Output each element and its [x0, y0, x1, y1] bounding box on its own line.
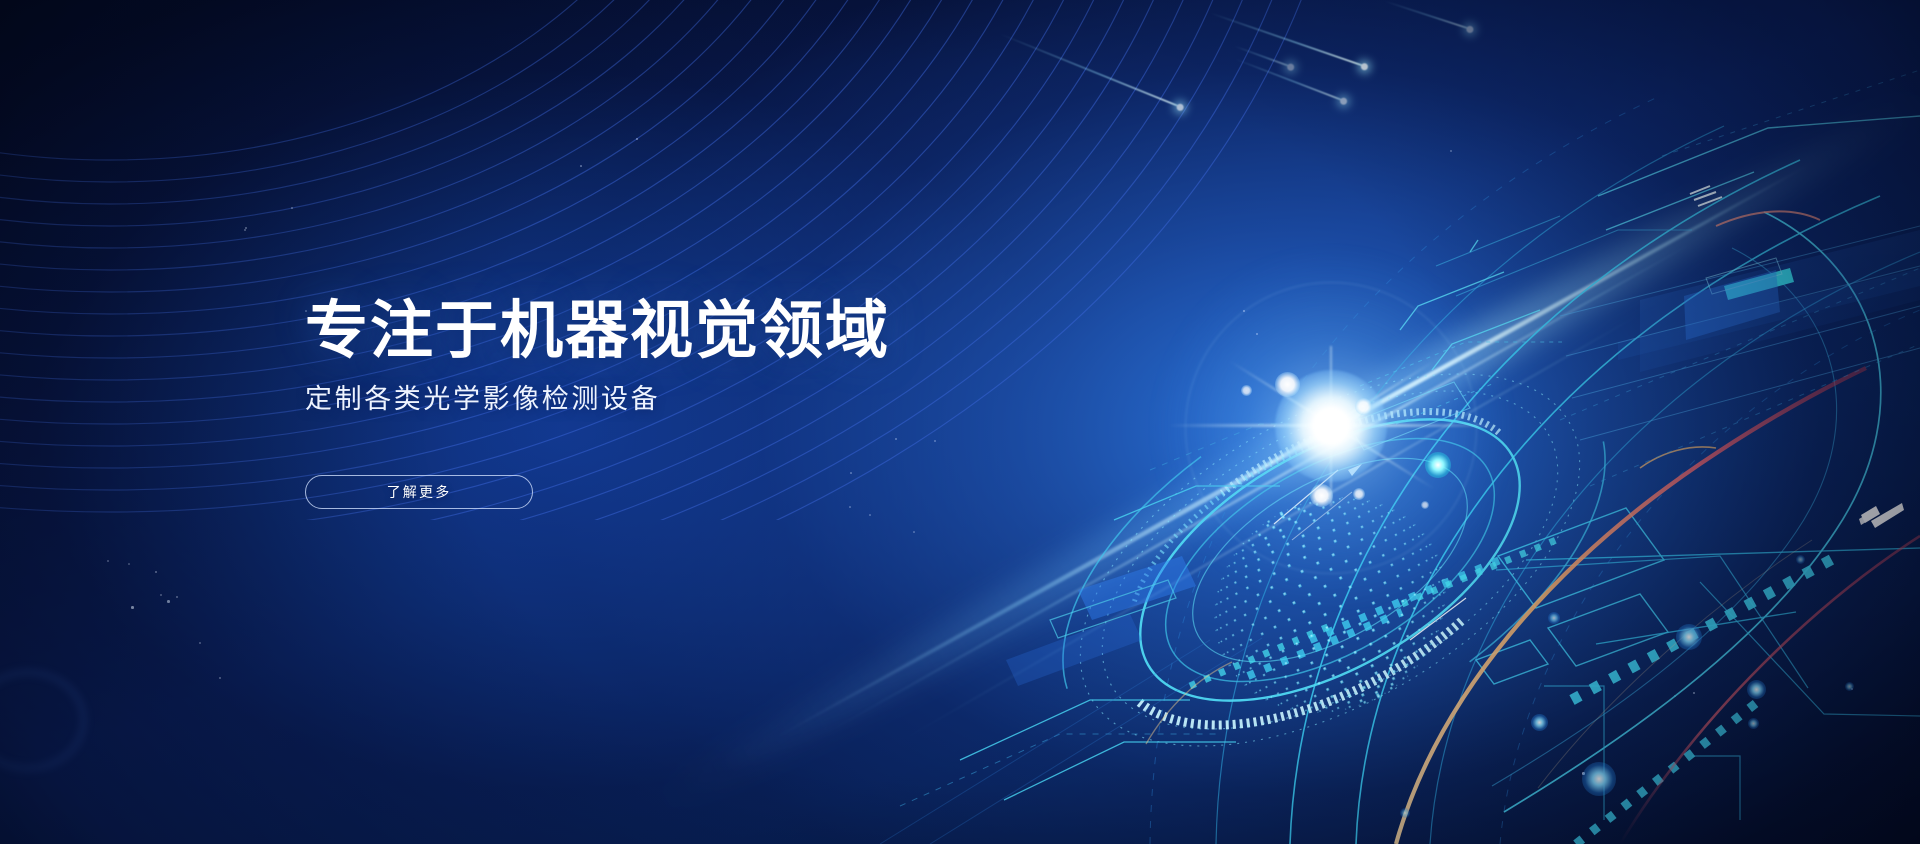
hero-banner: 专注于机器视觉领域 定制各类光学影像检测设备 了解更多 — [0, 0, 1920, 844]
page-title: 专注于机器视觉领域 — [305, 300, 890, 363]
chevron-icon — [1856, 497, 1908, 537]
circuit-traces — [0, 0, 1920, 844]
page-subtitle: 定制各类光学影像检测设备 — [305, 386, 890, 413]
hero-content: 专注于机器视觉领域 定制各类光学影像检测设备 了解更多 — [305, 300, 890, 509]
learn-more-button[interactable]: 了解更多 — [305, 475, 533, 509]
